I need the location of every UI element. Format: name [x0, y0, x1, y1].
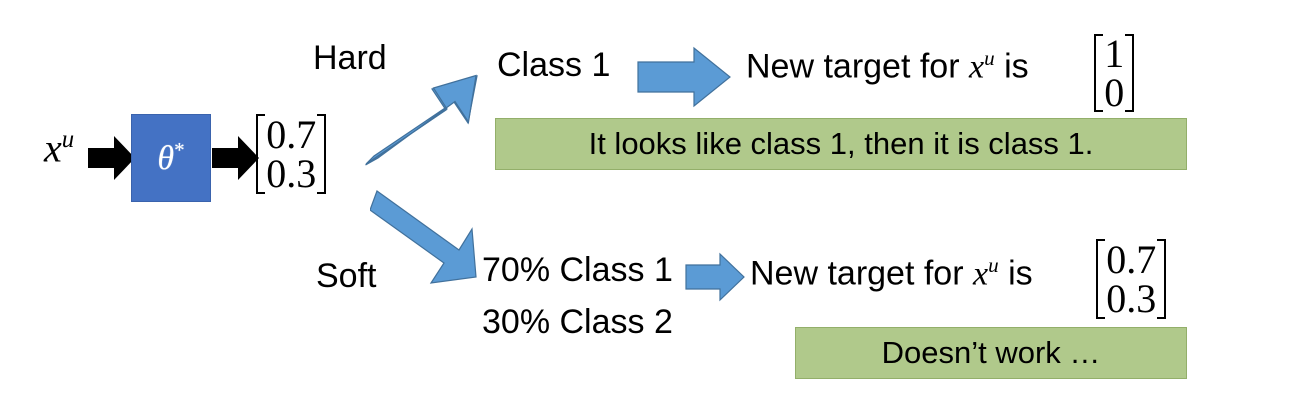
input-variable-superscript: u	[62, 126, 74, 153]
new-target-prefix-hard: New target for	[746, 47, 969, 85]
target-vector-hard: 1 0	[1094, 34, 1134, 122]
right-arrow-blue-icon-top	[636, 46, 732, 108]
new-target-superscript-soft: u	[988, 253, 999, 277]
input-variable-label: xu	[44, 128, 74, 168]
model-label: θ*	[132, 138, 210, 178]
target-vector-soft-row-1: 0.3	[1106, 279, 1156, 318]
new-target-text-hard: New target for xu is	[746, 48, 1029, 84]
output-vector: 0.7 0.3	[256, 114, 326, 204]
note-box-hard: It looks like class 1, then it is class …	[495, 118, 1187, 170]
bracket-left	[1096, 239, 1105, 319]
branch-label-soft: Soft	[316, 259, 376, 293]
target-vector-soft-row-0: 0.7	[1106, 240, 1156, 279]
model-box: θ*	[131, 114, 211, 202]
prediction-label-soft-line1: 70% Class 1	[482, 253, 673, 287]
bracket-right	[317, 114, 326, 194]
new-target-variable-hard: x	[969, 48, 984, 85]
new-target-suffix-hard: is	[995, 47, 1029, 85]
bracket-right	[1125, 34, 1134, 112]
prediction-label-hard: Class 1	[497, 48, 610, 82]
black-arrow-icon-input	[88, 134, 136, 182]
diagram-canvas: xu θ* 0.7 0.3 Hard Class 1	[0, 0, 1302, 418]
target-vector-hard-row-1: 0	[1104, 73, 1124, 112]
target-vector-hard-row-0: 1	[1104, 34, 1124, 73]
up-right-arrow-blue-icon	[358, 68, 484, 176]
black-arrow-icon-output	[212, 134, 260, 182]
model-label-base: θ	[157, 140, 174, 177]
model-label-superscript: *	[174, 138, 185, 162]
new-target-variable-soft: x	[973, 255, 988, 292]
bracket-right	[1157, 239, 1166, 319]
new-target-text-soft: New target for xu is	[750, 255, 1033, 291]
output-vector-row-0: 0.7	[266, 115, 316, 154]
down-right-arrow-blue-icon	[370, 188, 480, 292]
new-target-prefix-soft: New target for	[750, 254, 973, 292]
new-target-superscript-hard: u	[984, 46, 995, 70]
prediction-label-soft-line2: 30% Class 2	[482, 305, 673, 339]
note-box-soft: Doesn’t work …	[795, 327, 1187, 379]
right-arrow-blue-icon-bottom	[684, 252, 746, 302]
bracket-left	[1094, 34, 1103, 112]
new-target-suffix-soft: is	[999, 254, 1033, 292]
input-variable-base: x	[44, 125, 62, 170]
target-vector-soft: 0.7 0.3	[1096, 239, 1166, 329]
output-vector-row-1: 0.3	[266, 154, 316, 193]
bracket-left	[256, 114, 265, 194]
